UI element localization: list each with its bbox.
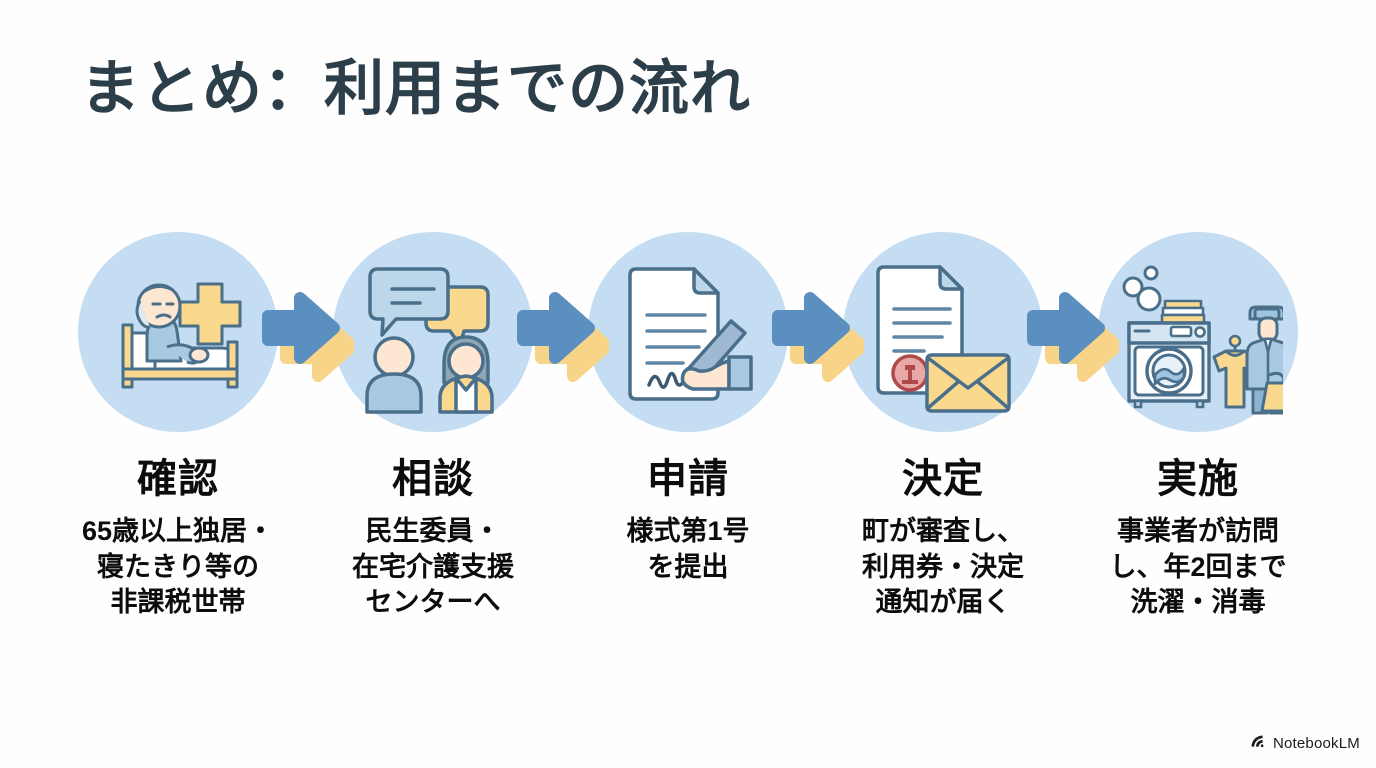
step-2-icon-circle xyxy=(333,232,533,432)
elderly-person-in-bed-icon xyxy=(93,247,263,417)
notebooklm-label: NotebookLM xyxy=(1273,735,1360,752)
process-flow: 確認 65歳以上独居・ 寝たきり等の 非課税世帯 xyxy=(0,232,1376,682)
step-3-title: 申請 xyxy=(647,458,729,500)
two-people-talking-icon xyxy=(348,247,518,417)
step-4-icon-circle xyxy=(843,232,1043,432)
step-5-title: 実施 xyxy=(1157,458,1239,500)
step-2-title: 相談 xyxy=(392,458,474,500)
step-2-description: 民生委員・ 在宅介護支援 センターへ xyxy=(352,514,514,621)
laundry-worker-washing-machine-icon xyxy=(1113,247,1283,417)
step-5-icon-circle xyxy=(1098,232,1298,432)
step-5-description: 事業者が訪問 し、年2回まで 洗濯・消毒 xyxy=(1109,514,1286,621)
hand-signing-document-icon xyxy=(603,247,773,417)
notebooklm-watermark: NotebookLM xyxy=(1249,733,1360,754)
step-3-icon-circle xyxy=(588,232,788,432)
slide-canvas: まとめ：利用までの流れ xyxy=(0,0,1376,768)
stamped-document-envelope-icon xyxy=(858,247,1028,417)
notebooklm-logo-icon xyxy=(1249,733,1266,754)
step-1-description: 65歳以上独居・ 寝たきり等の 非課税世帯 xyxy=(82,514,274,621)
step-3-description: 様式第1号 を提出 xyxy=(626,514,749,585)
flow-step-3: 申請 様式第1号 を提出 xyxy=(561,232,816,585)
step-4-description: 町が審査し、 利用券・決定 通知が届く xyxy=(862,514,1024,621)
step-1-icon-circle xyxy=(78,232,278,432)
step-1-title: 確認 xyxy=(137,458,219,500)
step-4-title: 決定 xyxy=(902,458,984,500)
page-title: まとめ：利用までの流れ xyxy=(80,54,751,123)
